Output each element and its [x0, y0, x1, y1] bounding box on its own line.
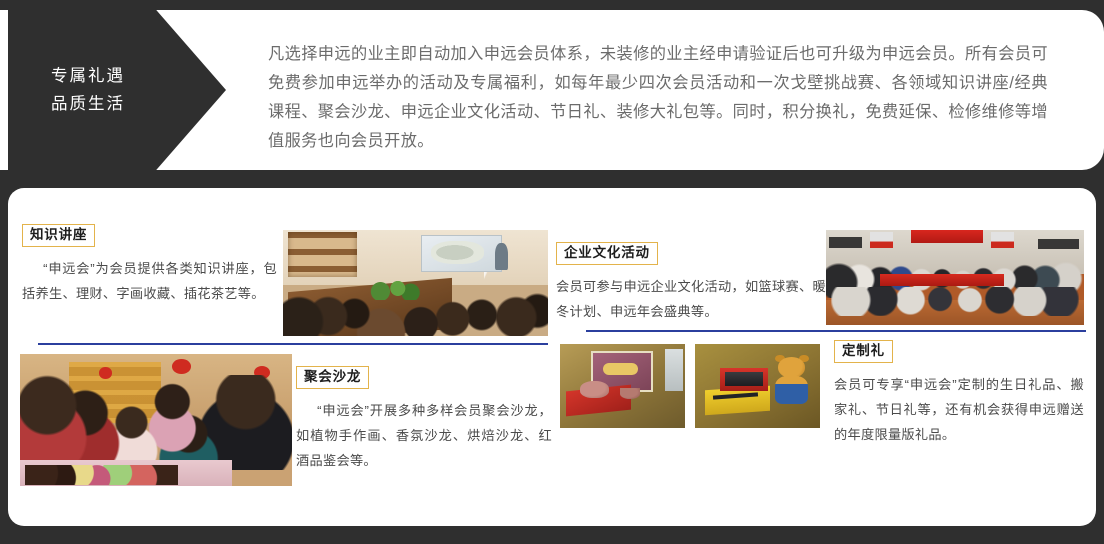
card-text-corporate-culture: 会员可参与申远企业文化活动，如篮球赛、暖冬计划、申远年会盛典等。: [556, 274, 826, 324]
lecture-room-photo: [283, 230, 548, 336]
card-knowledge-lecture: 知识讲座 “申远会”为会员提供各类知识讲座，包括养生、理财、字画收藏、插花茶艺等…: [22, 224, 277, 306]
card-corporate-culture: 企业文化活动 会员可参与申远企业文化活动，如篮球赛、暖冬计划、申远年会盛典等。: [556, 242, 826, 324]
card-gathering-salon: 聚会沙龙 “申远会”开展多种多样会员聚会沙龙，如植物手作画、香氛沙龙、烘焙沙龙、…: [296, 366, 552, 473]
card-text-gathering-salon: “申远会”开展多种多样会员聚会沙龙，如植物手作画、香氛沙龙、烘焙沙龙、红酒品鉴会…: [296, 398, 552, 473]
exclusive-benefits-banner: 专属礼遇 品质生活 凡选择申远的业主即自动加入申远会员体系，未装修的业主经申请验…: [0, 10, 1104, 170]
banner-body-text: 凡选择申远的业主即自动加入申远会员体系，未装修的业主经申请验证后也可升级为申远会…: [268, 40, 1048, 156]
banner-title-line-1: 专属礼遇: [51, 68, 125, 85]
banner-title-line-2: 品质生活: [51, 96, 125, 113]
divider-right: [586, 330, 1086, 332]
membership-benefits-panel: 知识讲座 “申远会”为会员提供各类知识讲座，包括养生、理财、字画收藏、插花茶艺等…: [8, 188, 1096, 526]
card-custom-gift: 定制礼 会员可专享“申远会”定制的生日礼品、搬家礼、节日礼等，还有机会获得申远赠…: [834, 340, 1084, 447]
banner-title: 专属礼遇 品质生活: [8, 10, 168, 170]
card-text-knowledge-lecture: “申远会”为会员提供各类知识讲座，包括养生、理财、字画收藏、插花茶艺等。: [22, 256, 277, 306]
gift-teapot-photo: [560, 344, 685, 428]
card-label-corporate-culture: 企业文化活动: [556, 242, 658, 265]
card-label-gathering-salon: 聚会沙龙: [296, 366, 369, 389]
card-text-custom-gift: 会员可专享“申远会”定制的生日礼品、搬家礼、节日礼等，还有机会获得申远赠送的年度…: [834, 372, 1084, 447]
kids-salon-photo: [20, 354, 292, 486]
card-label-custom-gift: 定制礼: [834, 340, 893, 363]
card-label-knowledge-lecture: 知识讲座: [22, 224, 95, 247]
gift-bear-photo: [695, 344, 820, 428]
divider-left: [38, 343, 548, 345]
basketball-team-photo: [826, 230, 1084, 325]
